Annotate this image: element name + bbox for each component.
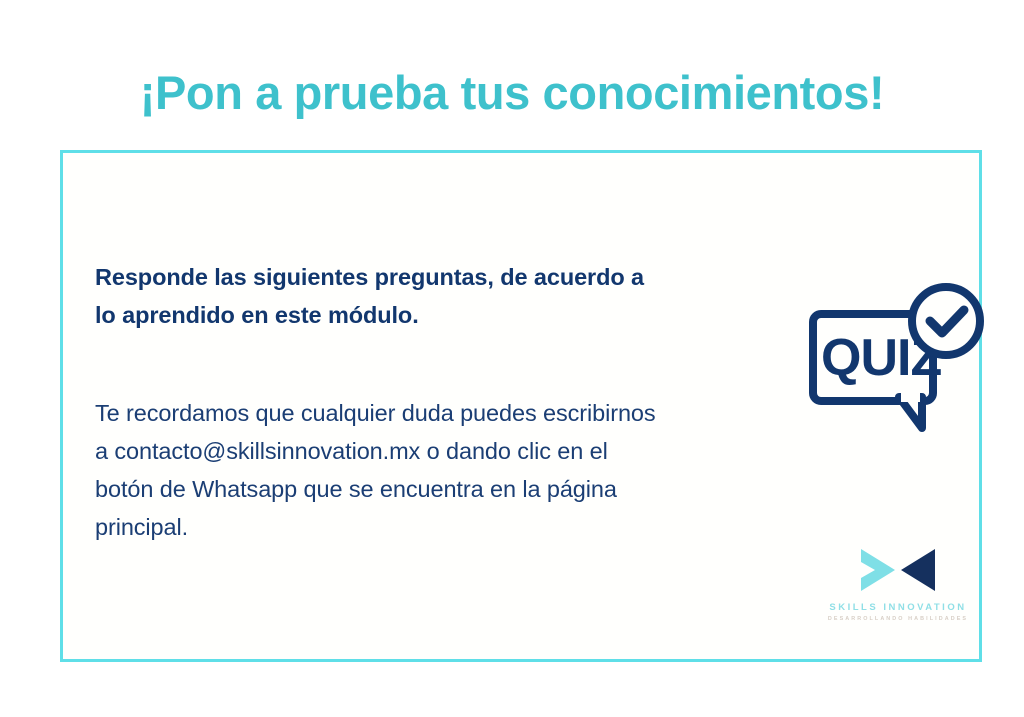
body-line-1: Te recordamos que cualquier duda puedes …: [95, 394, 815, 432]
lead-paragraph: Responde las siguientes preguntas, de ac…: [95, 258, 815, 334]
page-title: ¡Pon a prueba tus conocimientos!: [0, 68, 1024, 117]
quiz-bubble-icon: QUIZ: [801, 278, 996, 443]
logo-tagline: DESARROLLANDO HABILIDADES: [798, 616, 998, 622]
brand-logo: SKILLS INNOVATION DESARROLLANDO HABILIDA…: [798, 543, 998, 622]
body-line-3: botón de Whatsapp que se encuentra en la…: [95, 470, 815, 508]
body-paragraph: Te recordamos que cualquier duda puedes …: [95, 394, 815, 546]
card-text-block: Responde las siguientes preguntas, de ac…: [95, 258, 815, 546]
lead-line-1: Responde las siguientes preguntas, de ac…: [95, 258, 815, 296]
body-line-4: principal.: [95, 508, 815, 546]
check-badge-circle: [912, 287, 980, 355]
lead-line-2: lo aprendido en este módulo.: [95, 296, 815, 334]
logo-chevron-light: [861, 549, 895, 591]
tail-seam-cover: [901, 392, 920, 402]
quiz-card: Responde las siguientes preguntas, de ac…: [60, 150, 982, 662]
logo-chevron-dark: [901, 549, 935, 591]
body-line-2: a contacto@skillsinnovation.mx o dando c…: [95, 432, 815, 470]
logo-mark-icon: [855, 543, 941, 597]
logo-name: SKILLS INNOVATION: [798, 602, 998, 613]
